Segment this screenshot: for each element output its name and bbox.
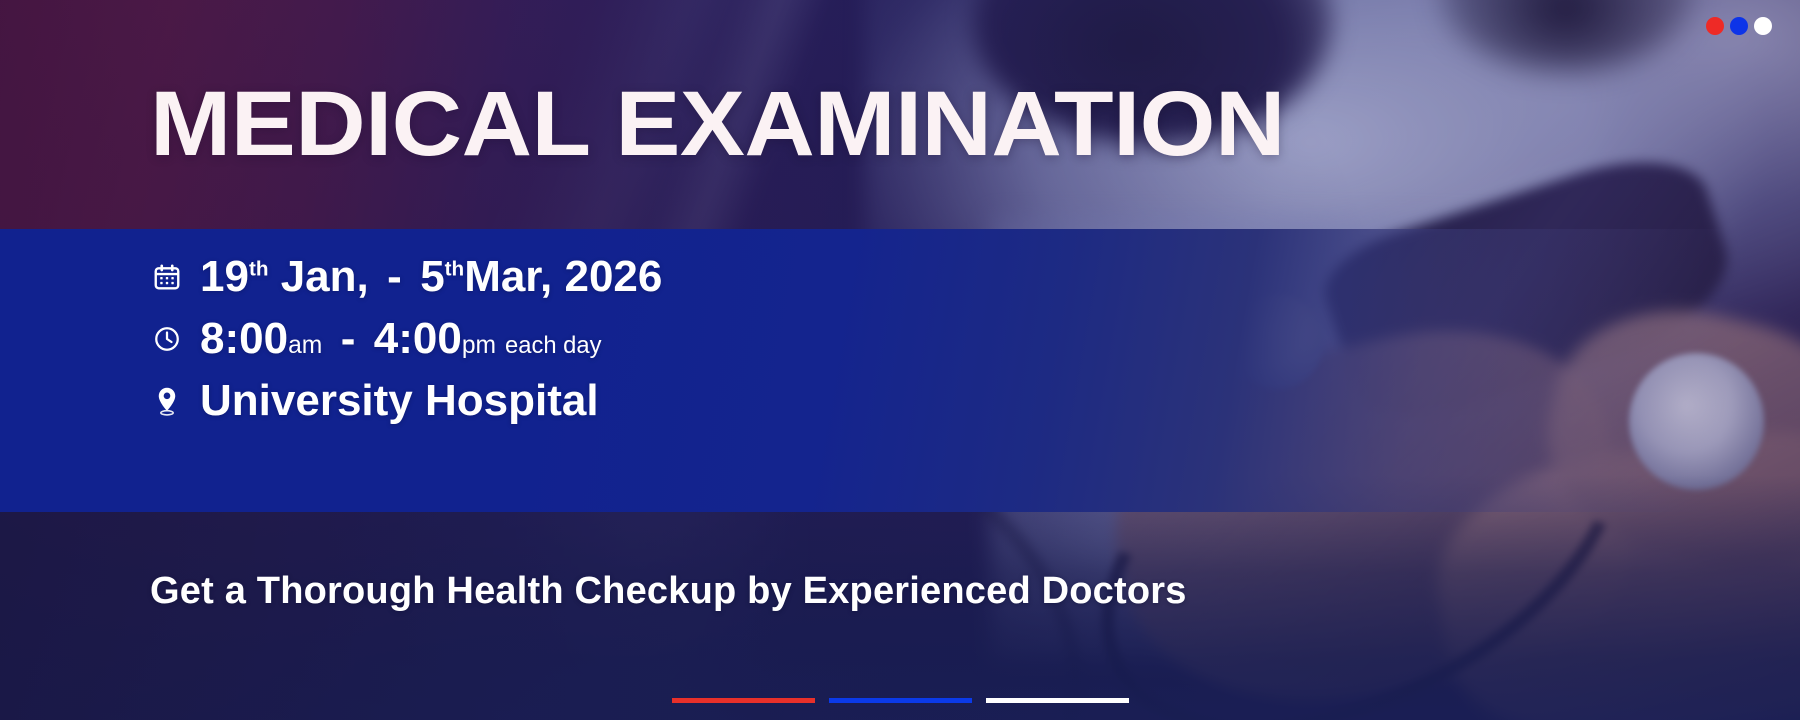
time-separator: - <box>341 314 356 363</box>
bar-white[interactable] <box>986 698 1129 703</box>
date-end-ordinal: th <box>445 257 465 280</box>
medical-examination-banner: MEDICAL EXAMINATION <box>0 0 1800 720</box>
date-end-month: Mar, <box>464 252 552 301</box>
date-end-day: 5 <box>420 252 444 301</box>
time-frequency: each day <box>505 332 601 359</box>
event-details-list: 19th Jan, - 5thMar, 2026 8:00am - <box>150 246 1050 432</box>
page-title: MEDICAL EXAMINATION <box>150 78 1285 170</box>
event-location-text: University Hospital <box>200 379 599 423</box>
slide-indicator-bars <box>672 698 1129 703</box>
detail-row-date: 19th Jan, - 5thMar, 2026 <box>150 246 1050 308</box>
calendar-icon <box>150 262 184 292</box>
event-time-text: 8:00am - 4:00pmeach day <box>200 317 601 361</box>
time-start: 8:00 <box>200 314 288 363</box>
date-start-month: Jan, <box>281 252 369 301</box>
date-separator: - <box>387 252 402 301</box>
dot-blue[interactable] <box>1730 17 1748 35</box>
banner-subtitle: Get a Thorough Health Checkup by Experie… <box>150 572 1187 610</box>
date-start-day: 19 <box>200 252 249 301</box>
location-pin-icon <box>150 385 184 417</box>
dot-red[interactable] <box>1706 17 1724 35</box>
time-start-meridiem: am <box>288 332 322 359</box>
event-date-text: 19th Jan, - 5thMar, 2026 <box>200 255 662 299</box>
time-end-meridiem: pm <box>462 332 496 359</box>
date-start-ordinal: th <box>249 257 269 280</box>
date-year: 2026 <box>564 252 662 301</box>
dot-white[interactable] <box>1754 17 1772 35</box>
time-end: 4:00 <box>374 314 462 363</box>
detail-row-location: University Hospital <box>150 370 1050 432</box>
bar-red[interactable] <box>672 698 815 703</box>
clock-icon <box>150 324 184 354</box>
banner-content: MEDICAL EXAMINATION <box>0 0 1800 720</box>
color-dots-group <box>1706 17 1772 35</box>
bar-blue[interactable] <box>829 698 972 703</box>
detail-row-time: 8:00am - 4:00pmeach day <box>150 308 1050 370</box>
